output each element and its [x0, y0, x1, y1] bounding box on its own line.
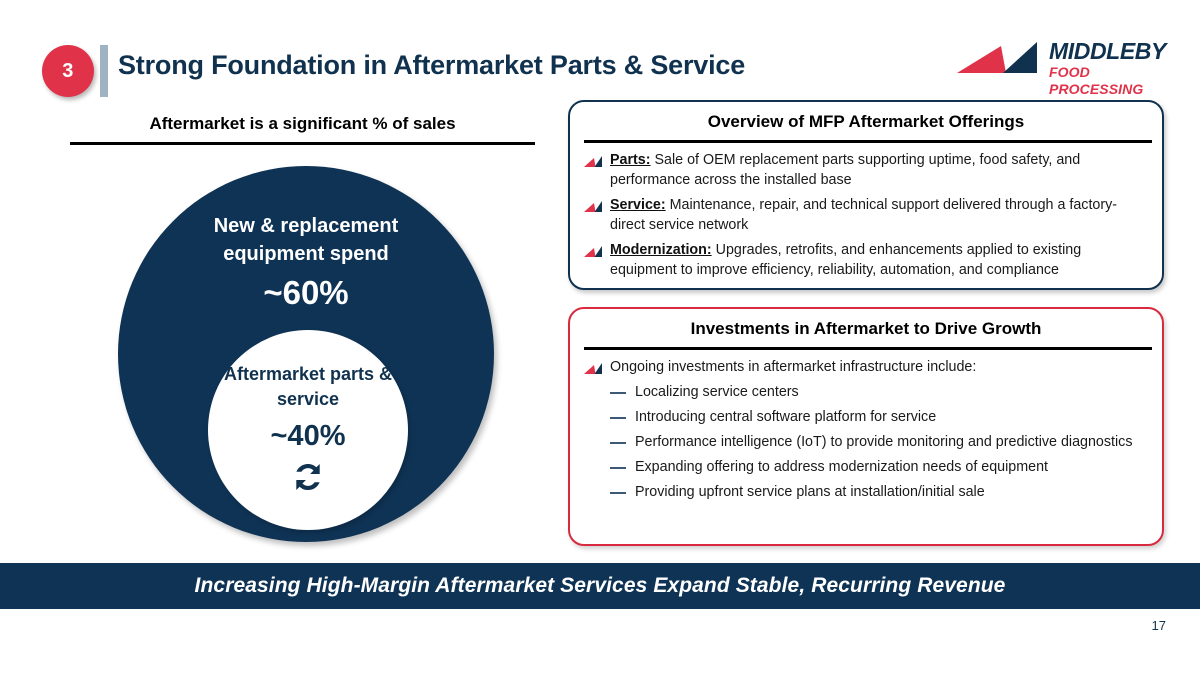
list-item: Performance intelligence (IoT) to provid…	[610, 432, 1150, 452]
list-item-body: Maintenance, repair, and technical suppo…	[610, 197, 1117, 233]
sync-arrows-icon	[290, 459, 326, 495]
list-item-text: Providing upfront service plans at insta…	[635, 482, 985, 502]
chart-inner-label: Aftermarket parts & service	[216, 362, 400, 412]
list-item-lead: Parts:	[610, 152, 651, 168]
list-item-text: Performance intelligence (IoT) to provid…	[635, 432, 1132, 452]
list-item-text: Modernization: Upgrades, retrofits, and …	[610, 240, 1150, 280]
chart-inner-slice: Aftermarket parts & service ~40%	[208, 330, 408, 530]
panel-investments: Investments in Aftermarket to Drive Grow…	[568, 307, 1164, 546]
dash-bullet-icon	[610, 467, 626, 469]
list-item: Service: Maintenance, repair, and techni…	[584, 195, 1150, 235]
dash-bullet-icon	[610, 417, 626, 419]
list-item: Localizing service centers	[610, 382, 1150, 402]
dash-bullet-icon	[610, 392, 626, 394]
list-item-body: Sale of OEM replacement parts supporting…	[610, 152, 1080, 188]
panel-investments-rule	[584, 347, 1152, 350]
panel-overview-title: Overview of MFP Aftermarket Offerings	[570, 112, 1162, 132]
dash-bullet-icon	[610, 442, 626, 444]
logo-name: MIDDLEBY	[1049, 38, 1166, 64]
list-item-text: Ongoing investments in aftermarket infra…	[610, 357, 976, 377]
swoosh-bullet-icon	[584, 246, 603, 258]
slide-number-badge: 3	[42, 45, 94, 97]
page-title: Strong Foundation in Aftermarket Parts &…	[118, 50, 745, 81]
footer-banner-text: Increasing High-Margin Aftermarket Servi…	[195, 574, 1006, 598]
title-accent-bar	[100, 45, 108, 97]
list-item-lead: Service:	[610, 197, 666, 213]
list-item: Parts: Sale of OEM replacement parts sup…	[584, 150, 1150, 190]
list-item-text: Service: Maintenance, repair, and techni…	[610, 195, 1150, 235]
company-logo: MIDDLEBY FOOD PROCESSING	[957, 36, 1162, 90]
logo-subtitle: FOOD PROCESSING	[1049, 64, 1166, 98]
page-number: 17	[1152, 618, 1166, 633]
chart-outer-value: ~60%	[168, 274, 444, 312]
panel-overview: Overview of MFP Aftermarket Offerings Pa…	[568, 100, 1164, 290]
list-item: Modernization: Upgrades, retrofits, and …	[584, 240, 1150, 280]
aftermarket-share-chart: New & replacement equipment spend ~60% A…	[118, 166, 498, 546]
list-item-text: Localizing service centers	[635, 382, 799, 402]
swoosh-bullet-icon	[584, 201, 603, 213]
list-item-lead: Modernization:	[610, 242, 712, 258]
logo-wordmark: MIDDLEBY FOOD PROCESSING	[1049, 38, 1166, 98]
dash-bullet-icon	[610, 492, 626, 494]
list-item-text: Introducing central software platform fo…	[635, 407, 936, 427]
left-section-heading: Aftermarket is a significant % of sales	[70, 114, 535, 134]
panel-overview-body: Parts: Sale of OEM replacement parts sup…	[584, 150, 1150, 285]
panel-investments-body: Ongoing investments in aftermarket infra…	[584, 357, 1150, 507]
middleby-swoosh-icon	[957, 42, 1047, 76]
left-section-rule	[70, 142, 535, 145]
panel-investments-title: Investments in Aftermarket to Drive Grow…	[570, 319, 1162, 339]
list-item: Providing upfront service plans at insta…	[610, 482, 1150, 502]
chart-outer-label: New & replacement equipment spend	[168, 212, 444, 268]
list-item: Expanding offering to address modernizat…	[610, 457, 1150, 477]
swoosh-bullet-icon	[584, 363, 603, 375]
list-item-text: Parts: Sale of OEM replacement parts sup…	[610, 150, 1150, 190]
footer-banner: Increasing High-Margin Aftermarket Servi…	[0, 563, 1200, 609]
panel-overview-rule	[584, 140, 1152, 143]
slide: 3 Strong Foundation in Aftermarket Parts…	[0, 0, 1200, 675]
list-item: Ongoing investments in aftermarket infra…	[584, 357, 1150, 377]
list-item-text: Expanding offering to address modernizat…	[635, 457, 1048, 477]
slide-number-badge-label: 3	[62, 60, 74, 83]
list-item: Introducing central software platform fo…	[610, 407, 1150, 427]
chart-inner-value: ~40%	[216, 420, 400, 453]
swoosh-bullet-icon	[584, 156, 603, 168]
